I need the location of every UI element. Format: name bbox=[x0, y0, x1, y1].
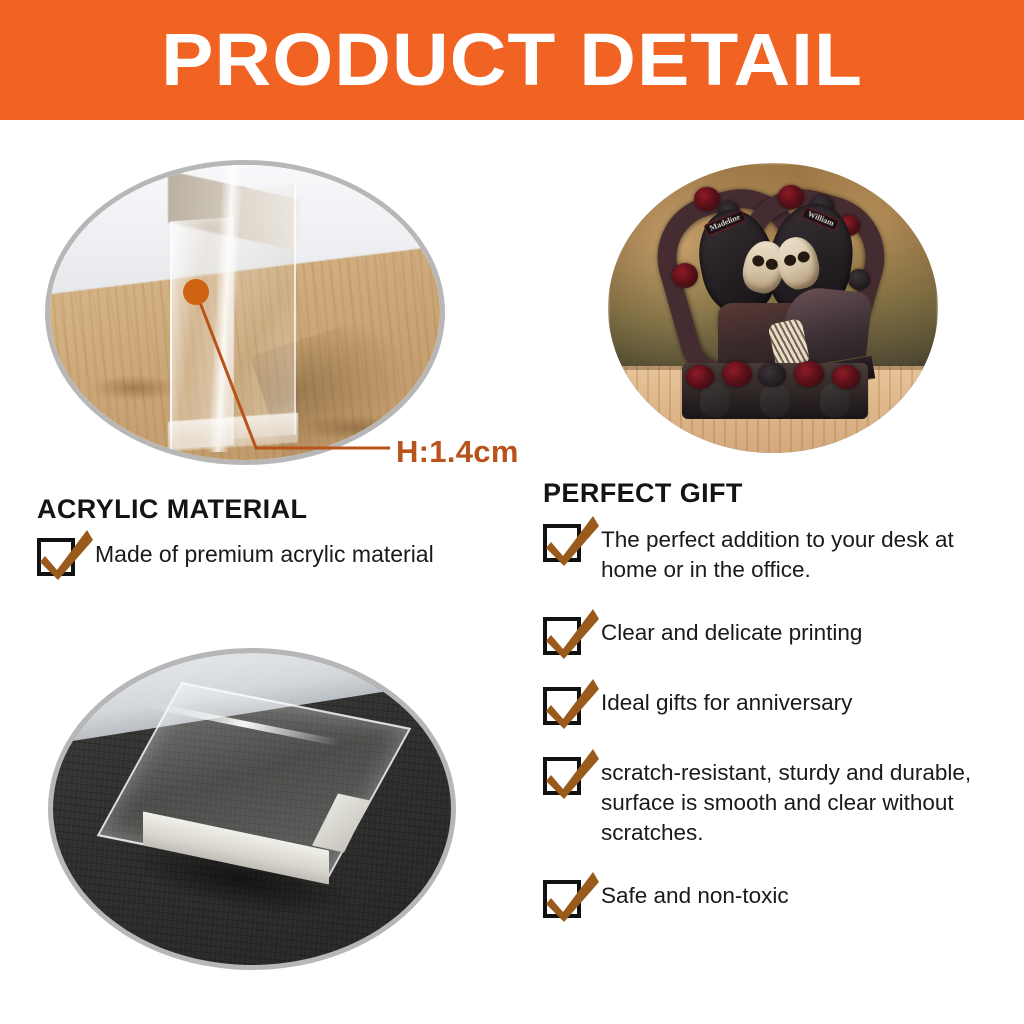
checkmark-icon bbox=[543, 880, 581, 918]
page-title: PRODUCT DETAIL bbox=[161, 23, 863, 97]
rose bbox=[832, 365, 860, 389]
rose bbox=[672, 263, 698, 288]
section-heading-perfect-gift: PERFECT GIFT bbox=[543, 478, 743, 509]
acrylic-block bbox=[139, 705, 365, 901]
rose bbox=[758, 363, 786, 387]
checkmark-icon bbox=[543, 757, 581, 795]
section-heading-acrylic-material: ACRYLIC MATERIAL bbox=[37, 494, 307, 525]
wood-table-scene bbox=[50, 165, 440, 460]
eye-socket bbox=[751, 254, 765, 268]
list-item-label: Safe and non-toxic bbox=[601, 878, 789, 911]
base-skull bbox=[760, 383, 790, 417]
list-item: Made of premium acrylic material bbox=[37, 536, 517, 576]
skull-couple-figurine-photo: Madeline William Till Death Do Us Part bbox=[608, 163, 938, 453]
list-item: Clear and delicate printing bbox=[543, 615, 1013, 655]
checkmark-icon bbox=[543, 687, 581, 725]
list-item: Ideal gifts for anniversary bbox=[543, 685, 1013, 725]
list-item-label: Clear and delicate printing bbox=[601, 615, 862, 648]
figurine-base bbox=[682, 363, 868, 419]
acrylic-block bbox=[170, 169, 298, 446]
acrylic-block-on-slate-photo bbox=[48, 648, 456, 970]
feature-list-perfect-gift: The perfect addition to your desk at hom… bbox=[543, 522, 1013, 948]
figurine-sculpture: Madeline William Till Death Do Us Part bbox=[666, 185, 876, 415]
header-banner: PRODUCT DETAIL bbox=[0, 0, 1024, 120]
checkmark-icon bbox=[543, 617, 581, 655]
list-item: Safe and non-toxic bbox=[543, 878, 1013, 918]
rose bbox=[848, 269, 870, 290]
checkmark-icon bbox=[543, 524, 581, 562]
wood-grain-knot bbox=[90, 375, 180, 401]
rose bbox=[722, 361, 752, 387]
rose bbox=[778, 185, 804, 209]
list-item-label: Ideal gifts for anniversary bbox=[601, 685, 852, 718]
list-item-label: The perfect addition to your desk at hom… bbox=[601, 522, 1013, 585]
rose bbox=[694, 187, 720, 211]
feature-list-acrylic-material: Made of premium acrylic material bbox=[37, 536, 517, 598]
list-item-label: scratch-resistant, sturdy and durable, s… bbox=[601, 755, 1013, 848]
rose bbox=[794, 361, 824, 387]
acrylic-block-edge-on-wood-photo bbox=[45, 160, 445, 465]
eye-socket bbox=[783, 254, 797, 268]
height-callout-label: H:1.4cm bbox=[396, 434, 519, 470]
list-item: The perfect addition to your desk at hom… bbox=[543, 522, 1013, 585]
rose bbox=[686, 365, 714, 389]
checkmark-icon bbox=[37, 538, 75, 576]
list-item-label: Made of premium acrylic material bbox=[95, 536, 434, 569]
eye-socket bbox=[797, 250, 811, 264]
list-item: scratch-resistant, sturdy and durable, s… bbox=[543, 755, 1013, 848]
